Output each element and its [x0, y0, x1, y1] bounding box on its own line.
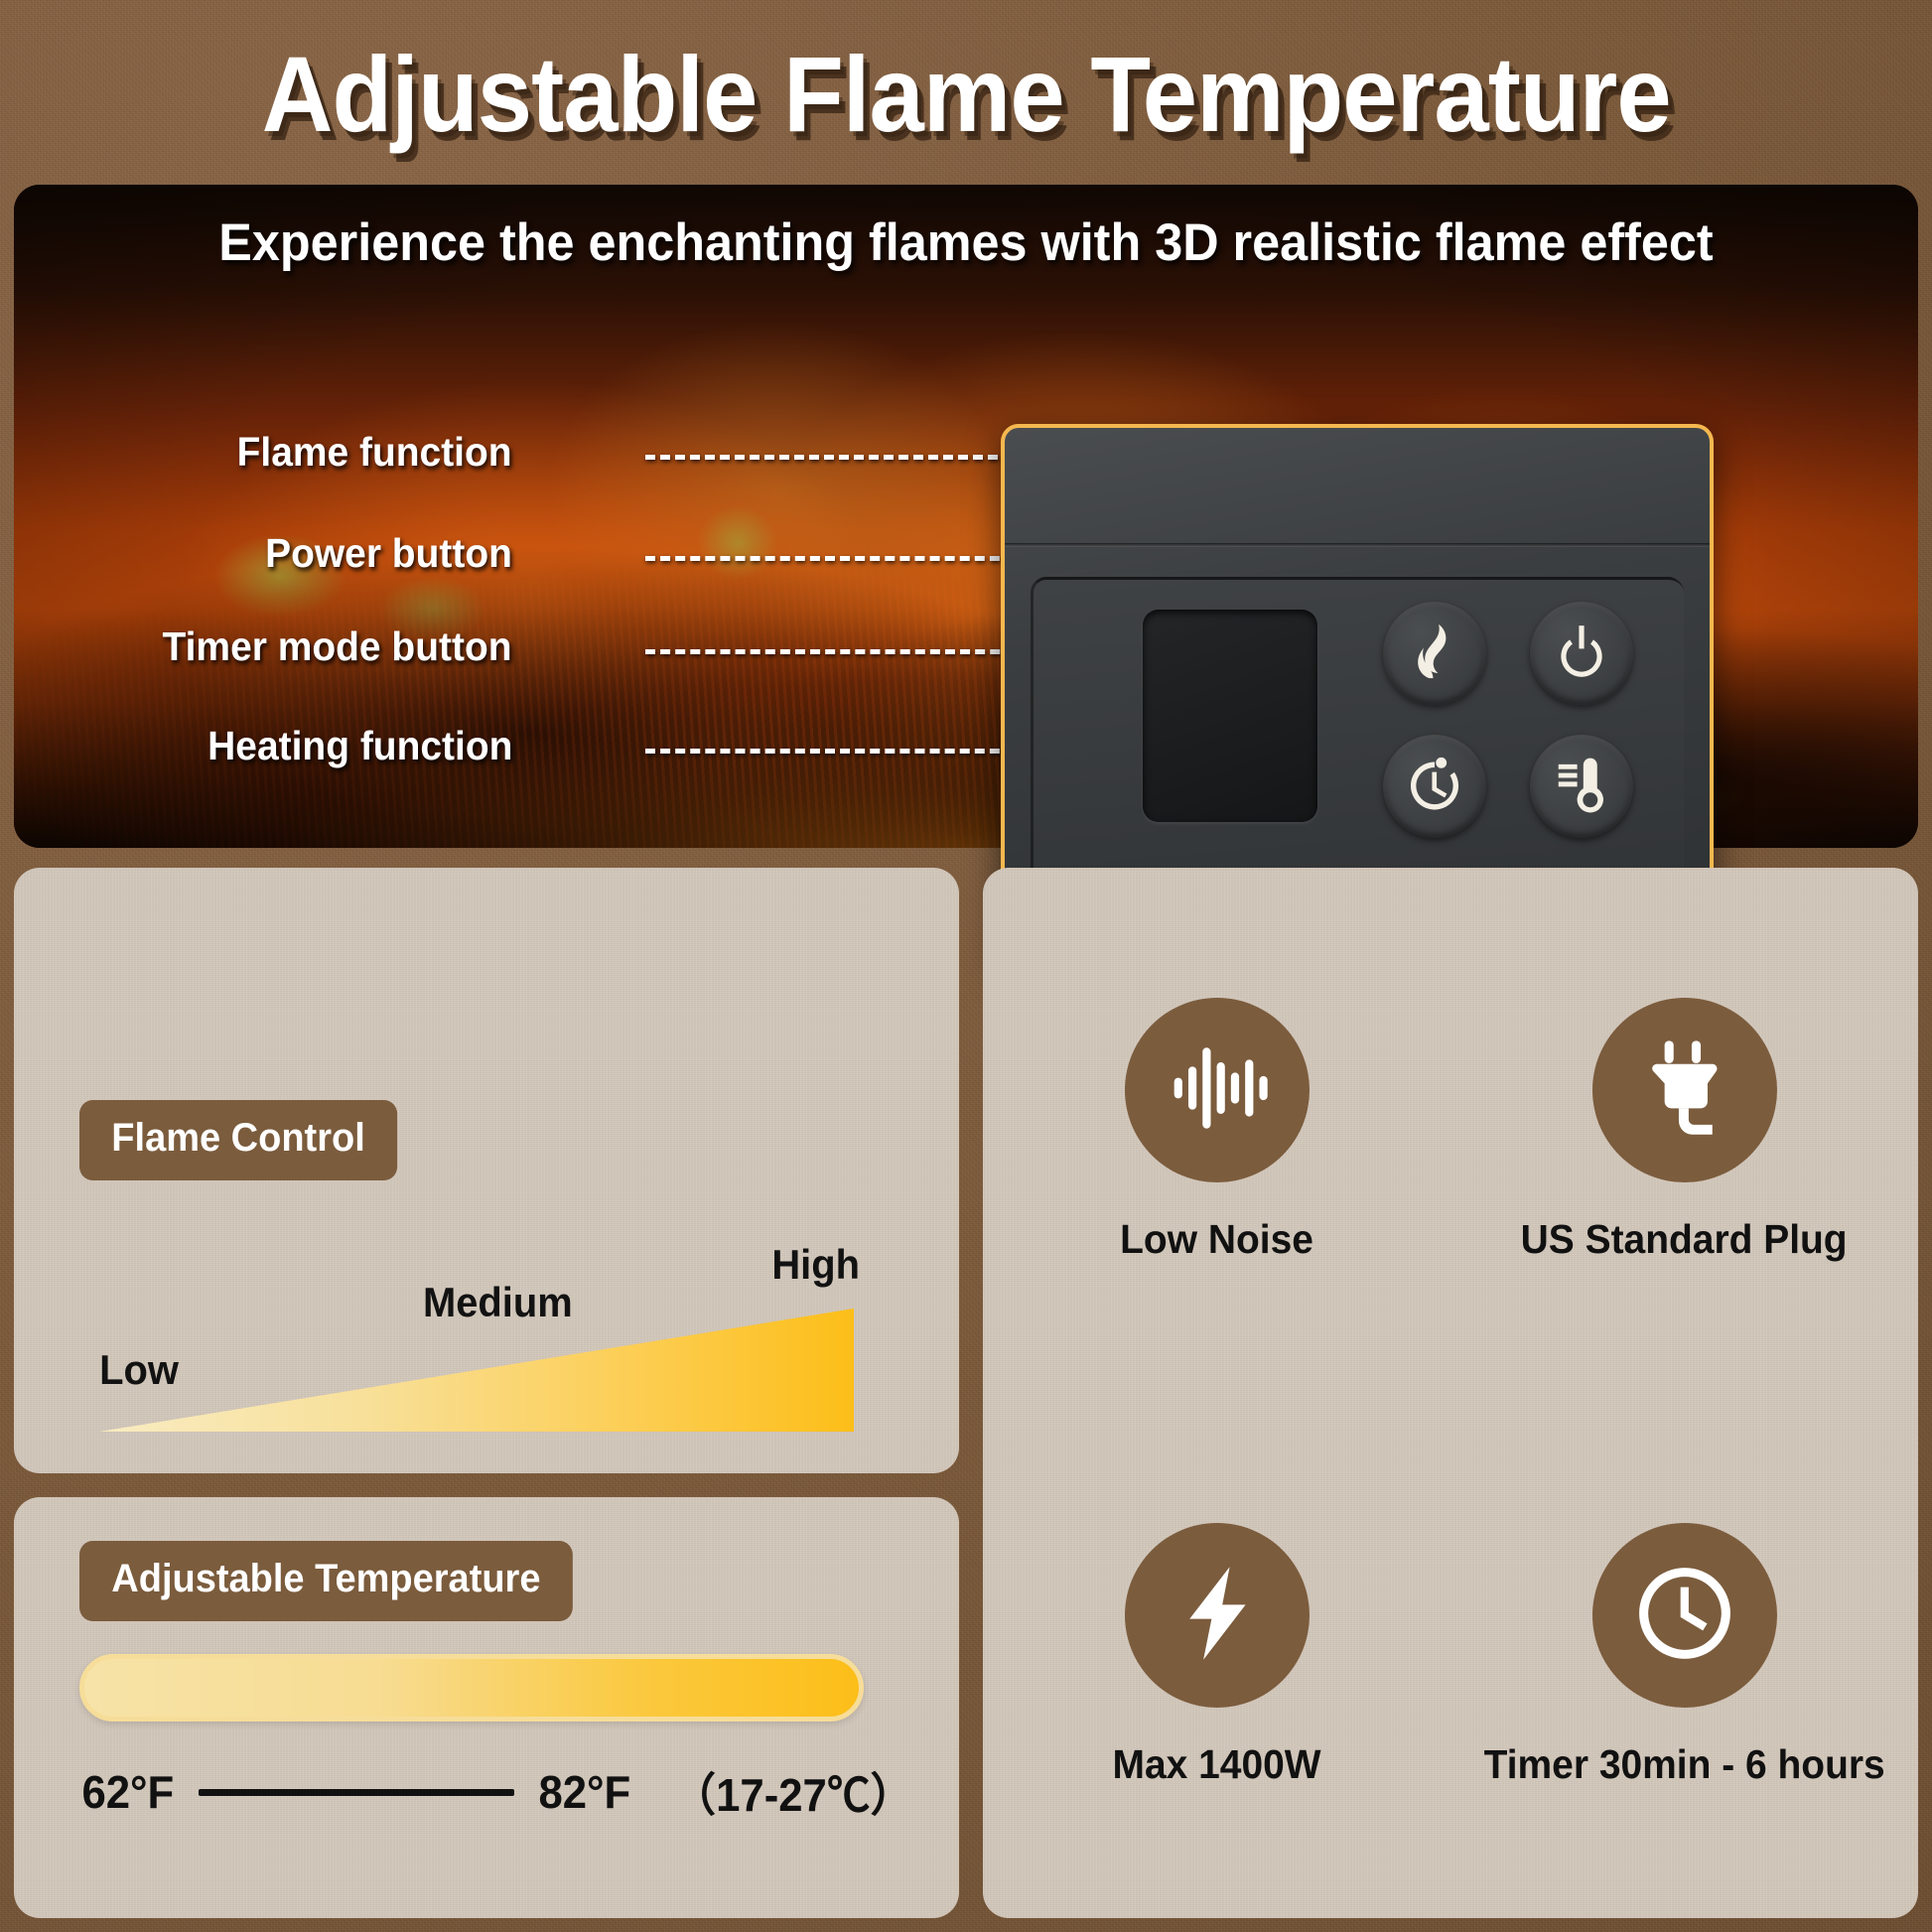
feature-low-noise: Low Noise: [983, 868, 1450, 1393]
temperature-max-label: 82°F: [538, 1765, 630, 1819]
flame-level-high-label: High: [771, 1241, 860, 1289]
flame-button[interactable]: [1383, 602, 1486, 705]
temperature-range-rule: [199, 1789, 514, 1796]
callout-label-heating-function: Heating function: [207, 723, 512, 769]
thermometer-icon: [1551, 754, 1612, 820]
feature-max-power: Max 1400W: [983, 1393, 1450, 1918]
features-grid: Low Noise US Standard Plug: [983, 868, 1918, 1918]
timer-button[interactable]: [1383, 735, 1486, 838]
feature-us-standard-plug: US Standard Plug: [1450, 868, 1918, 1393]
temperature-range-bar[interactable]: [79, 1654, 864, 1722]
temperature-range-row: 62°F 82°F （17-27℃）: [79, 1759, 920, 1825]
flame-icon: [1404, 621, 1465, 687]
bolt-icon-circle: [1125, 1523, 1310, 1708]
clock-icon-circle: [1592, 1523, 1777, 1708]
sound-wave-icon: [1166, 1036, 1269, 1145]
page-title-wrap: Adjustable Flame Temperature: [0, 38, 1932, 150]
plug-icon-circle: [1592, 998, 1777, 1182]
feature-max-power-label: Max 1400W: [1112, 1741, 1320, 1788]
clock-icon: [1633, 1562, 1736, 1670]
adjustable-temperature-badge: Adjustable Temperature: [79, 1541, 573, 1621]
power-icon: [1551, 621, 1612, 687]
feature-timer-range: Timer 30min - 6 hours: [1450, 1393, 1918, 1918]
plug-icon: [1633, 1036, 1736, 1145]
panel-seam: [1005, 543, 1710, 547]
display-screen: [1143, 610, 1317, 822]
temperature-celsius-label: （17-27℃）: [673, 1759, 914, 1825]
callout-label-flame-function: Flame function: [237, 429, 512, 476]
feature-timer-range-label: Timer 30min - 6 hours: [1483, 1741, 1884, 1788]
callout-label-timer-mode-button: Timer mode button: [163, 623, 512, 670]
temperature-button[interactable]: [1530, 735, 1633, 838]
flame-level-low-label: Low: [99, 1346, 179, 1394]
feature-low-noise-label: Low Noise: [1120, 1216, 1313, 1263]
sound-wave-icon-circle: [1125, 998, 1310, 1182]
power-button[interactable]: [1530, 602, 1633, 705]
flame-control-badge: Flame Control: [79, 1100, 397, 1180]
hero-subtitle: Experience the enchanting flames with 3D…: [62, 212, 1870, 273]
infographic-page: Adjustable Flame Temperature Experience …: [0, 0, 1932, 1932]
feature-us-standard-plug-label: US Standard Plug: [1521, 1216, 1848, 1263]
bolt-icon: [1166, 1562, 1269, 1670]
flame-level-medium-label: Medium: [423, 1279, 573, 1326]
callout-label-power-button: Power button: [265, 530, 512, 577]
timer-icon: [1404, 754, 1465, 820]
temperature-min-label: 62°F: [81, 1765, 174, 1819]
page-title: Adjustable Flame Temperature: [261, 38, 1670, 150]
